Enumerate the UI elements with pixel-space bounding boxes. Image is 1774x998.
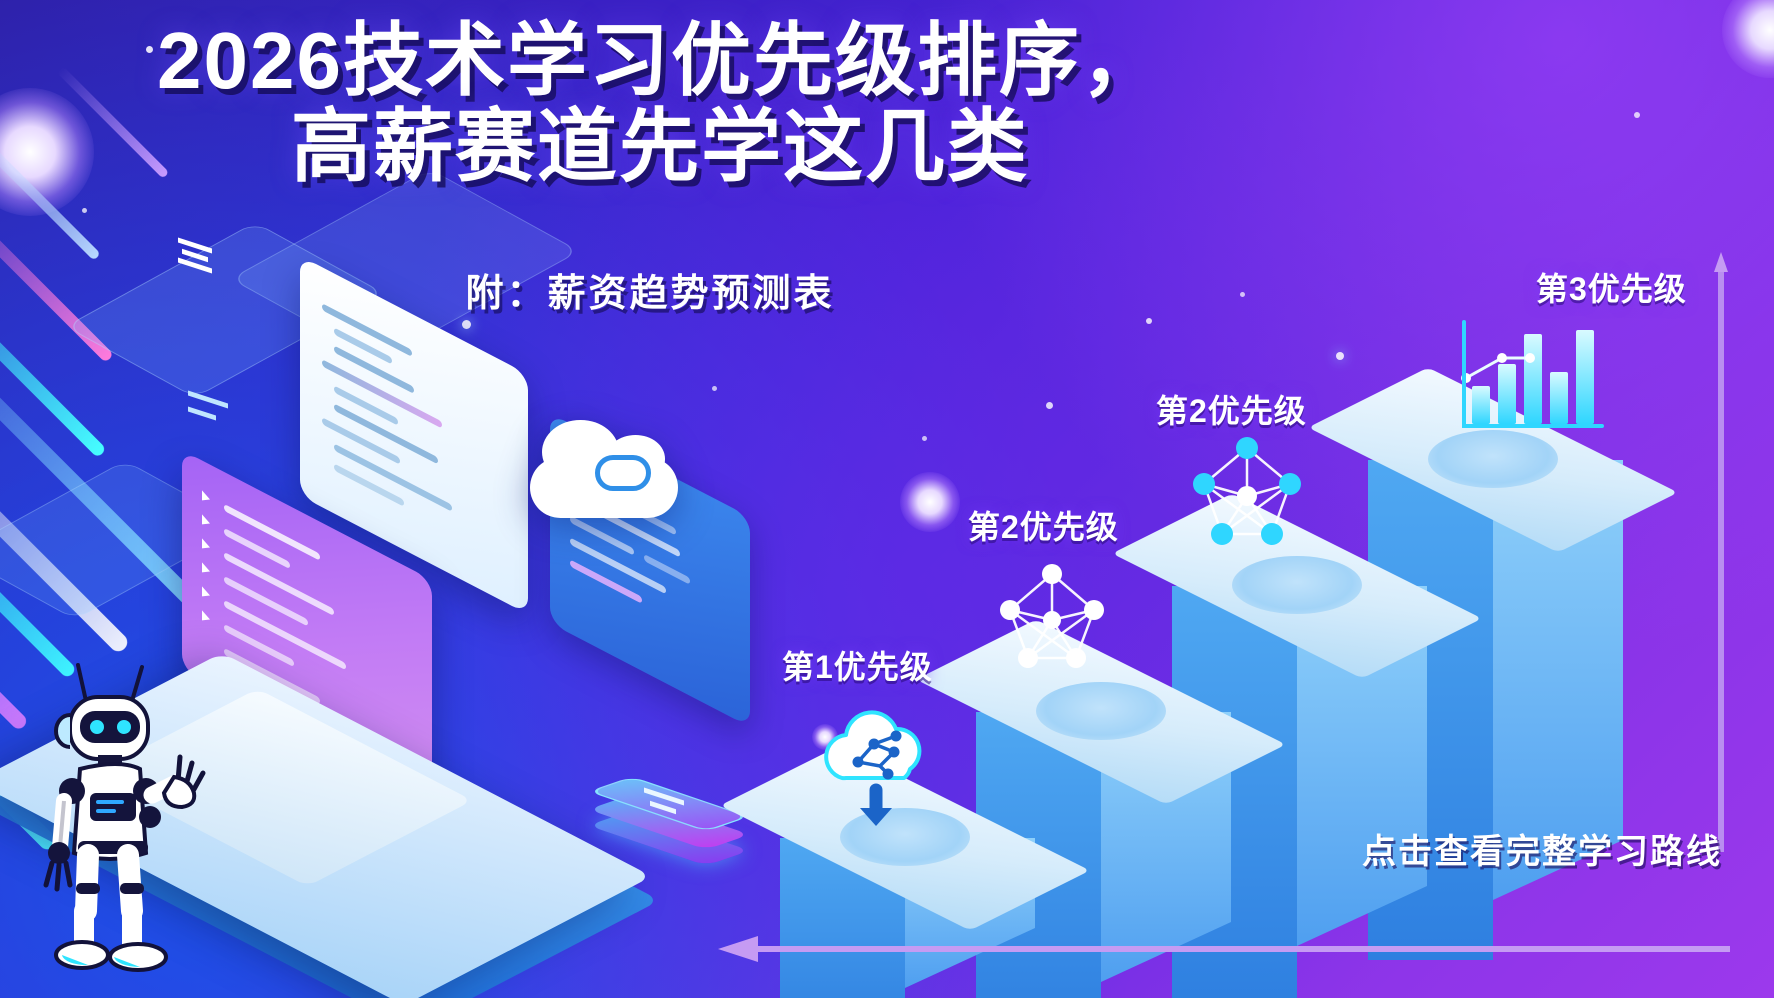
neural-network-icon: [1182, 434, 1312, 554]
poster-canvas: 第3优先级 第2优先级: [0, 0, 1774, 998]
bokeh-glow-top-right: [1722, 0, 1774, 78]
step-label-4: 第3优先级: [1536, 264, 1687, 310]
star-dot: [712, 386, 717, 391]
step-label-2: 第2优先级: [968, 502, 1119, 548]
step-label-1: 第1优先级: [782, 642, 933, 688]
title-line-1: 2026技术学习优先级排序，: [0, 18, 1320, 104]
layer-stack-icon: [610, 782, 740, 864]
glyph-tile: [188, 393, 234, 427]
hud-panel: [0, 460, 245, 620]
light-streak: [0, 303, 203, 611]
star-dot: [462, 320, 471, 329]
page-title: 2026技术学习优先级排序， 高薪赛道先学这几类: [0, 18, 1320, 191]
cloud-network-icon: [812, 700, 940, 832]
title-line-2: 高薪赛道先学这几类: [0, 104, 1320, 190]
cta-link[interactable]: 点击查看完整学习路线: [1362, 824, 1722, 873]
robot-mascot-icon: [28, 645, 218, 985]
star-dot: [1146, 318, 1152, 324]
step-label-3: 第2优先级: [1156, 386, 1307, 432]
star-dot: [1634, 112, 1640, 118]
neural-network-icon: [990, 560, 1114, 678]
star-dot: [82, 208, 87, 213]
bar-chart-growth-icon: [1450, 316, 1610, 434]
bokeh-glow-center: [900, 472, 960, 532]
star-dot: [922, 436, 927, 441]
light-streak: [0, 388, 131, 655]
checklist-window-icon: [182, 450, 432, 800]
subtitle: 附：薪资趋势预测表: [0, 262, 1300, 317]
star-dot: [1046, 402, 1053, 409]
light-streak: [0, 537, 29, 731]
back-arrow: [718, 936, 1730, 962]
code-window-icon: [550, 413, 750, 727]
up-arrow: [1714, 252, 1728, 852]
star-dot: [1336, 352, 1344, 360]
cloud-icon: [530, 420, 678, 518]
